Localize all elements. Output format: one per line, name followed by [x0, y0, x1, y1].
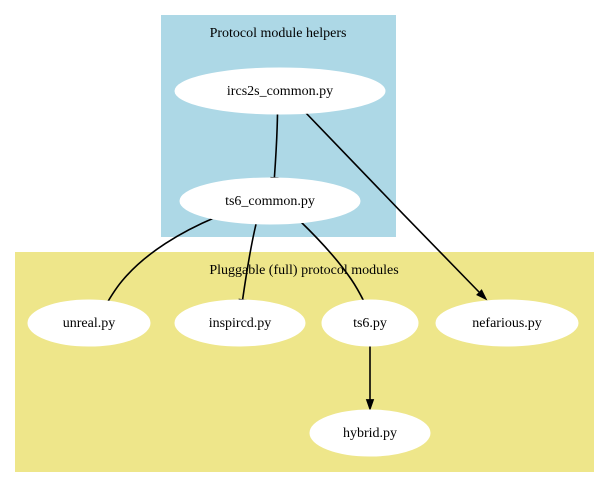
node-label: unreal.py: [63, 316, 115, 331]
cluster-modules-rect: [15, 252, 594, 472]
node-nefarious[interactable]: nefarious.py: [436, 300, 578, 346]
node-ts6_common[interactable]: ts6_common.py: [180, 178, 360, 224]
node-inspircd[interactable]: inspircd.py: [175, 300, 305, 346]
node-ts6[interactable]: ts6.py: [322, 300, 418, 346]
node-unreal[interactable]: unreal.py: [28, 300, 150, 346]
node-label: inspircd.py: [209, 316, 272, 331]
node-hybrid[interactable]: hybrid.py: [310, 410, 430, 456]
node-label: ircs2s_common.py: [227, 84, 333, 99]
node-ircs2s_common[interactable]: ircs2s_common.py: [175, 68, 385, 114]
protocol-module-dependency-diagram: Protocol module helpers Pluggable (full)…: [0, 0, 609, 490]
cluster-pluggable-protocol-modules: Pluggable (full) protocol modules: [15, 252, 594, 472]
node-label: ts6_common.py: [225, 194, 315, 209]
node-label: nefarious.py: [472, 316, 542, 331]
node-label: ts6.py: [353, 316, 387, 331]
node-label: hybrid.py: [343, 426, 397, 441]
cluster-helpers-label: Protocol module helpers: [210, 26, 347, 41]
cluster-modules-label: Pluggable (full) protocol modules: [209, 263, 398, 278]
